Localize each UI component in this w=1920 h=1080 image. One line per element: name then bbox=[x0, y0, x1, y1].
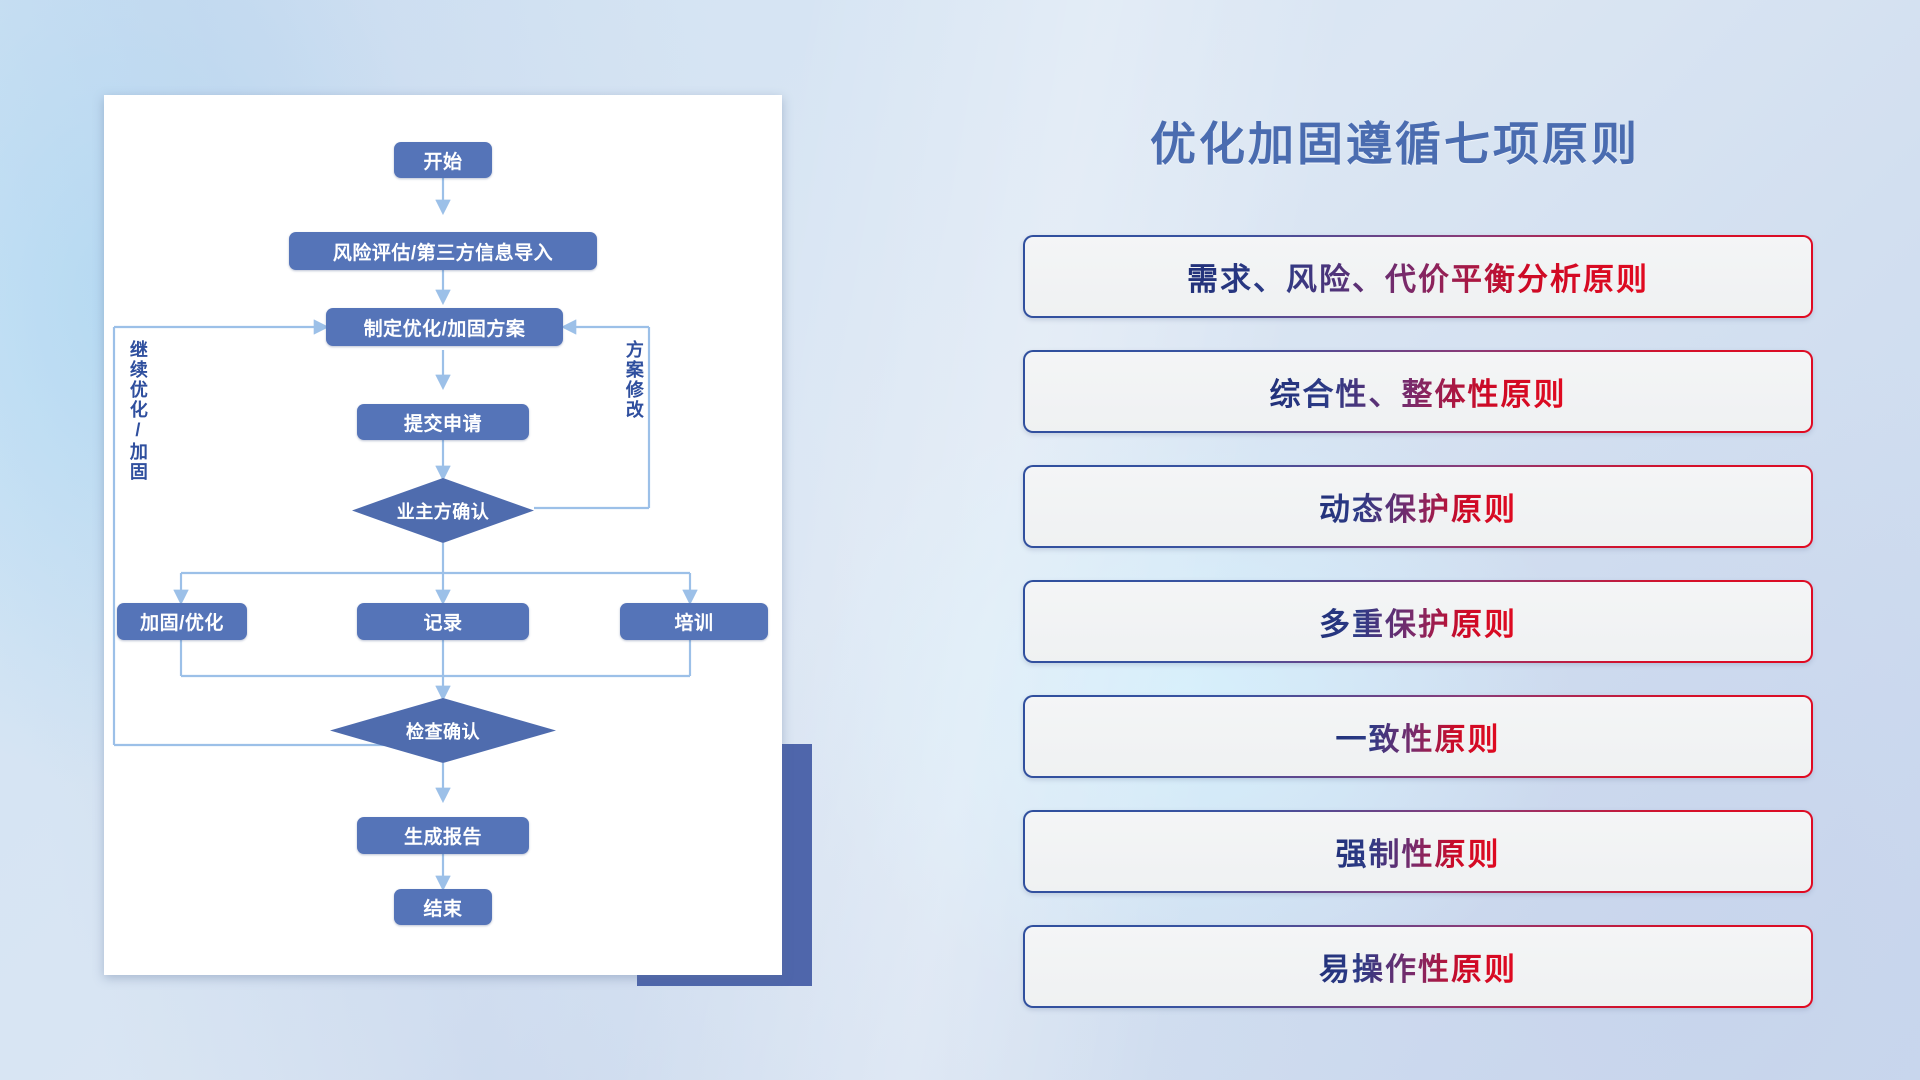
flow-node-label: 结束 bbox=[423, 894, 462, 921]
flow-node-label: 开始 bbox=[423, 147, 462, 174]
principle-label: 需求、风险、代价平衡分析原则 bbox=[1187, 254, 1649, 299]
principle-label: 一致性原则 bbox=[1336, 714, 1501, 759]
flow-node-label: 风险评估/第三方信息导入 bbox=[333, 238, 553, 265]
flow-node-label: 业主方确认 bbox=[397, 498, 490, 524]
flowchart-card: 开始 风险评估/第三方信息导入 制定优化/加固方案 提交申请 业主方确认 加固/… bbox=[104, 95, 782, 975]
principle-card[interactable]: 多重保护原则 bbox=[1023, 580, 1813, 663]
principle-card[interactable]: 动态保护原则 bbox=[1023, 465, 1813, 548]
flow-node-label: 加固/优化 bbox=[140, 608, 224, 635]
flow-node-risk-assessment[interactable]: 风险评估/第三方信息导入 bbox=[289, 232, 597, 270]
flow-node-label: 生成报告 bbox=[404, 822, 482, 849]
principle-label: 多重保护原则 bbox=[1319, 599, 1517, 644]
flow-node-label: 制定优化/加固方案 bbox=[364, 314, 526, 341]
flow-node-generate-report[interactable]: 生成报告 bbox=[357, 817, 529, 854]
principle-label: 易操作性原则 bbox=[1319, 944, 1517, 989]
principle-card[interactable]: 需求、风险、代价平衡分析原则 bbox=[1023, 235, 1813, 318]
flow-node-start[interactable]: 开始 bbox=[394, 142, 492, 178]
flow-edge-label-continue-optimize: 继续优化/加固 bbox=[128, 340, 147, 482]
principle-label: 强制性原则 bbox=[1336, 829, 1501, 874]
flow-node-label: 检查确认 bbox=[406, 718, 480, 744]
flow-node-submit-application[interactable]: 提交申请 bbox=[357, 404, 529, 440]
flow-node-label: 培训 bbox=[674, 608, 713, 635]
flow-node-make-plan[interactable]: 制定优化/加固方案 bbox=[326, 308, 563, 346]
flow-node-check-confirm-label[interactable]: 检查确认 bbox=[352, 717, 534, 745]
principle-card[interactable]: 强制性原则 bbox=[1023, 810, 1813, 893]
slide-root: 开始 风险评估/第三方信息导入 制定优化/加固方案 提交申请 业主方确认 加固/… bbox=[0, 0, 1920, 1080]
principles-list: 需求、风险、代价平衡分析原则 综合性、整体性原则 动态保护原则 多重保护原则 一… bbox=[1023, 235, 1813, 1040]
principle-card[interactable]: 一致性原则 bbox=[1023, 695, 1813, 778]
flow-node-training[interactable]: 培训 bbox=[620, 603, 768, 640]
flow-node-owner-confirm-label[interactable]: 业主方确认 bbox=[352, 497, 534, 525]
flow-node-reinforce-optimize[interactable]: 加固/优化 bbox=[117, 603, 247, 640]
principle-label: 综合性、整体性原则 bbox=[1270, 369, 1567, 414]
principle-card[interactable]: 综合性、整体性原则 bbox=[1023, 350, 1813, 433]
flow-node-record[interactable]: 记录 bbox=[357, 603, 529, 640]
principle-card[interactable]: 易操作性原则 bbox=[1023, 925, 1813, 1008]
flow-node-label: 记录 bbox=[423, 608, 462, 635]
page-title: 优化加固遵循七项原则 bbox=[1150, 108, 1640, 174]
flow-node-end[interactable]: 结束 bbox=[394, 889, 492, 925]
principle-label: 动态保护原则 bbox=[1319, 484, 1517, 529]
flow-edge-label-plan-revision: 方案修改 bbox=[624, 340, 643, 420]
flow-node-label: 提交申请 bbox=[404, 409, 482, 436]
